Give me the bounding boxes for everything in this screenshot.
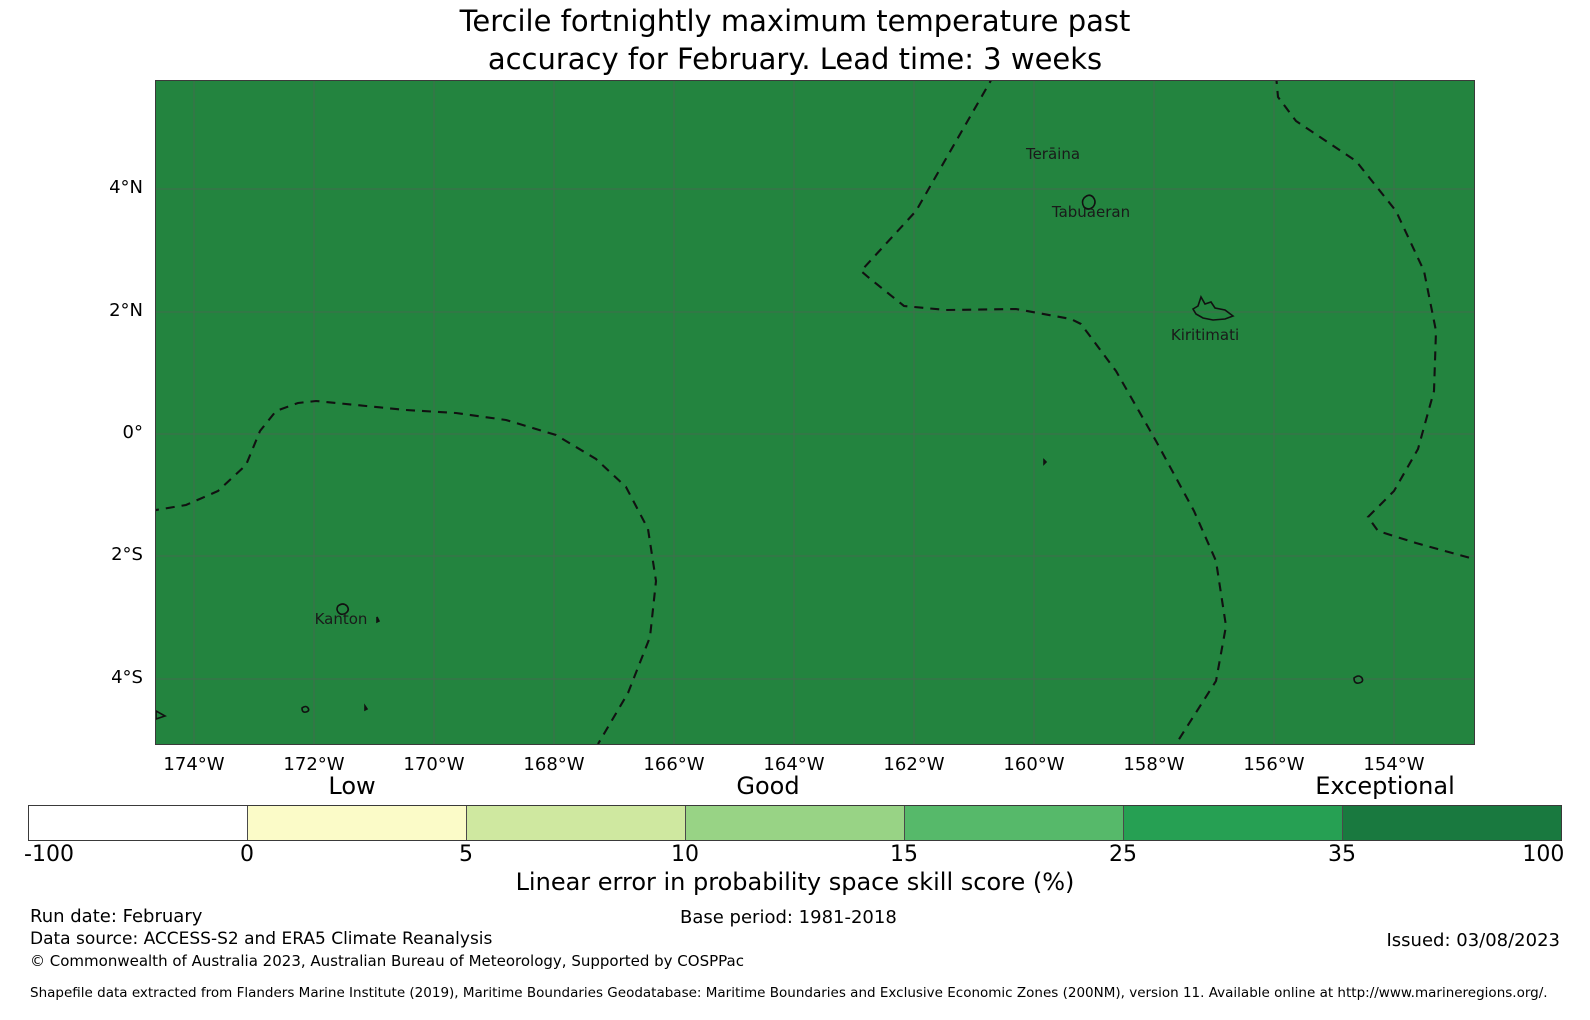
island-label-teraina: Terāina (1025, 145, 1080, 163)
ytick-4n: 4°N (109, 179, 143, 197)
xtick-166w: 166°W (643, 755, 704, 775)
colorbar-category-exceptional: Exceptional (1315, 772, 1455, 800)
eez-phoenix-islands (156, 401, 656, 744)
colorbar[interactable] (28, 805, 1562, 841)
xtick-174w: 174°W (163, 755, 224, 775)
map-graphic: Terāina Tabuaeran Kiritimati Kanton (156, 81, 1474, 744)
ytick-2n: 2°N (109, 302, 143, 320)
footer-shapefile-attribution: Shapefile data extracted from Flanders M… (30, 985, 1548, 1001)
colorbar-tick-5: 5 (459, 843, 473, 867)
xtick-156w: 156°W (1243, 755, 1304, 775)
colorbar-segment-5 (1123, 806, 1342, 840)
colorbar-tick-0: 0 (240, 843, 254, 867)
gridlines (156, 81, 1474, 744)
colorbar-tick-35: 35 (1328, 843, 1356, 867)
colorbar-tick--100: -100 (24, 843, 74, 867)
island-label-kiritimati: Kiritimati (1171, 326, 1239, 344)
footer-issued-date: Issued: 03/08/2023 (1386, 930, 1560, 952)
colorbar-category-low: Low (328, 772, 375, 800)
eez-boundary-lines (156, 81, 1474, 744)
colorbar-segment-0 (29, 806, 247, 840)
colorbar-segment-6 (1342, 806, 1561, 840)
title-line-1: Tercile fortnightly maximum temperature … (0, 2, 1590, 40)
xtick-162w: 162°W (883, 755, 944, 775)
footer-data-source: Data source: ACCESS-S2 and ERA5 Climate … (30, 928, 744, 950)
island-outlines (156, 195, 1363, 719)
ytick-2s: 2°S (111, 546, 143, 564)
colorbar-segment-4 (904, 806, 1123, 840)
colorbar-tick-25: 25 (1109, 843, 1137, 867)
colorbar-tick-15: 15 (890, 843, 918, 867)
island-label-kanton: Kanton (315, 610, 368, 628)
islet-f (156, 711, 165, 719)
xtick-168w: 168°W (523, 755, 584, 775)
ytick-0: 0° (123, 424, 143, 442)
xtick-170w: 170°W (403, 755, 464, 775)
footer-left-block: Run date: February Data source: ACCESS-S… (30, 906, 744, 972)
colorbar-segment-3 (685, 806, 904, 840)
footer-base-period: Base period: 1981-2018 (680, 907, 897, 929)
xtick-158w: 158°W (1123, 755, 1184, 775)
islet-b (302, 707, 309, 713)
colorbar-segment-1 (247, 806, 466, 840)
xtick-160w: 160°W (1003, 755, 1064, 775)
footer-copyright: © Commonwealth of Australia 2023, Austra… (30, 950, 744, 972)
eez-line-islands-west (861, 81, 1226, 744)
eez-line-islands-east (1276, 81, 1474, 559)
colorbar-category-good: Good (736, 772, 799, 800)
islet-a (377, 617, 379, 622)
title-line-2: accuracy for February. Lead time: 3 week… (0, 40, 1590, 78)
colorbar-tick-100: 100 (1522, 843, 1564, 867)
kiritimati-outline (1193, 297, 1233, 320)
colorbar-segment-2 (466, 806, 685, 840)
islet-d (1354, 676, 1363, 683)
islet-c (365, 706, 367, 710)
ytick-4s: 4°S (111, 669, 143, 687)
islet-e (1044, 460, 1046, 464)
footer-run-date: Run date: February (30, 906, 744, 928)
page-title: Tercile fortnightly maximum temperature … (0, 2, 1590, 78)
island-label-tabuaeran: Tabuaeran (1051, 203, 1130, 221)
map-plot-area[interactable]: Terāina Tabuaeran Kiritimati Kanton (155, 80, 1475, 745)
colorbar-axis-label: Linear error in probability space skill … (0, 868, 1590, 896)
colorbar-tick-10: 10 (671, 843, 699, 867)
